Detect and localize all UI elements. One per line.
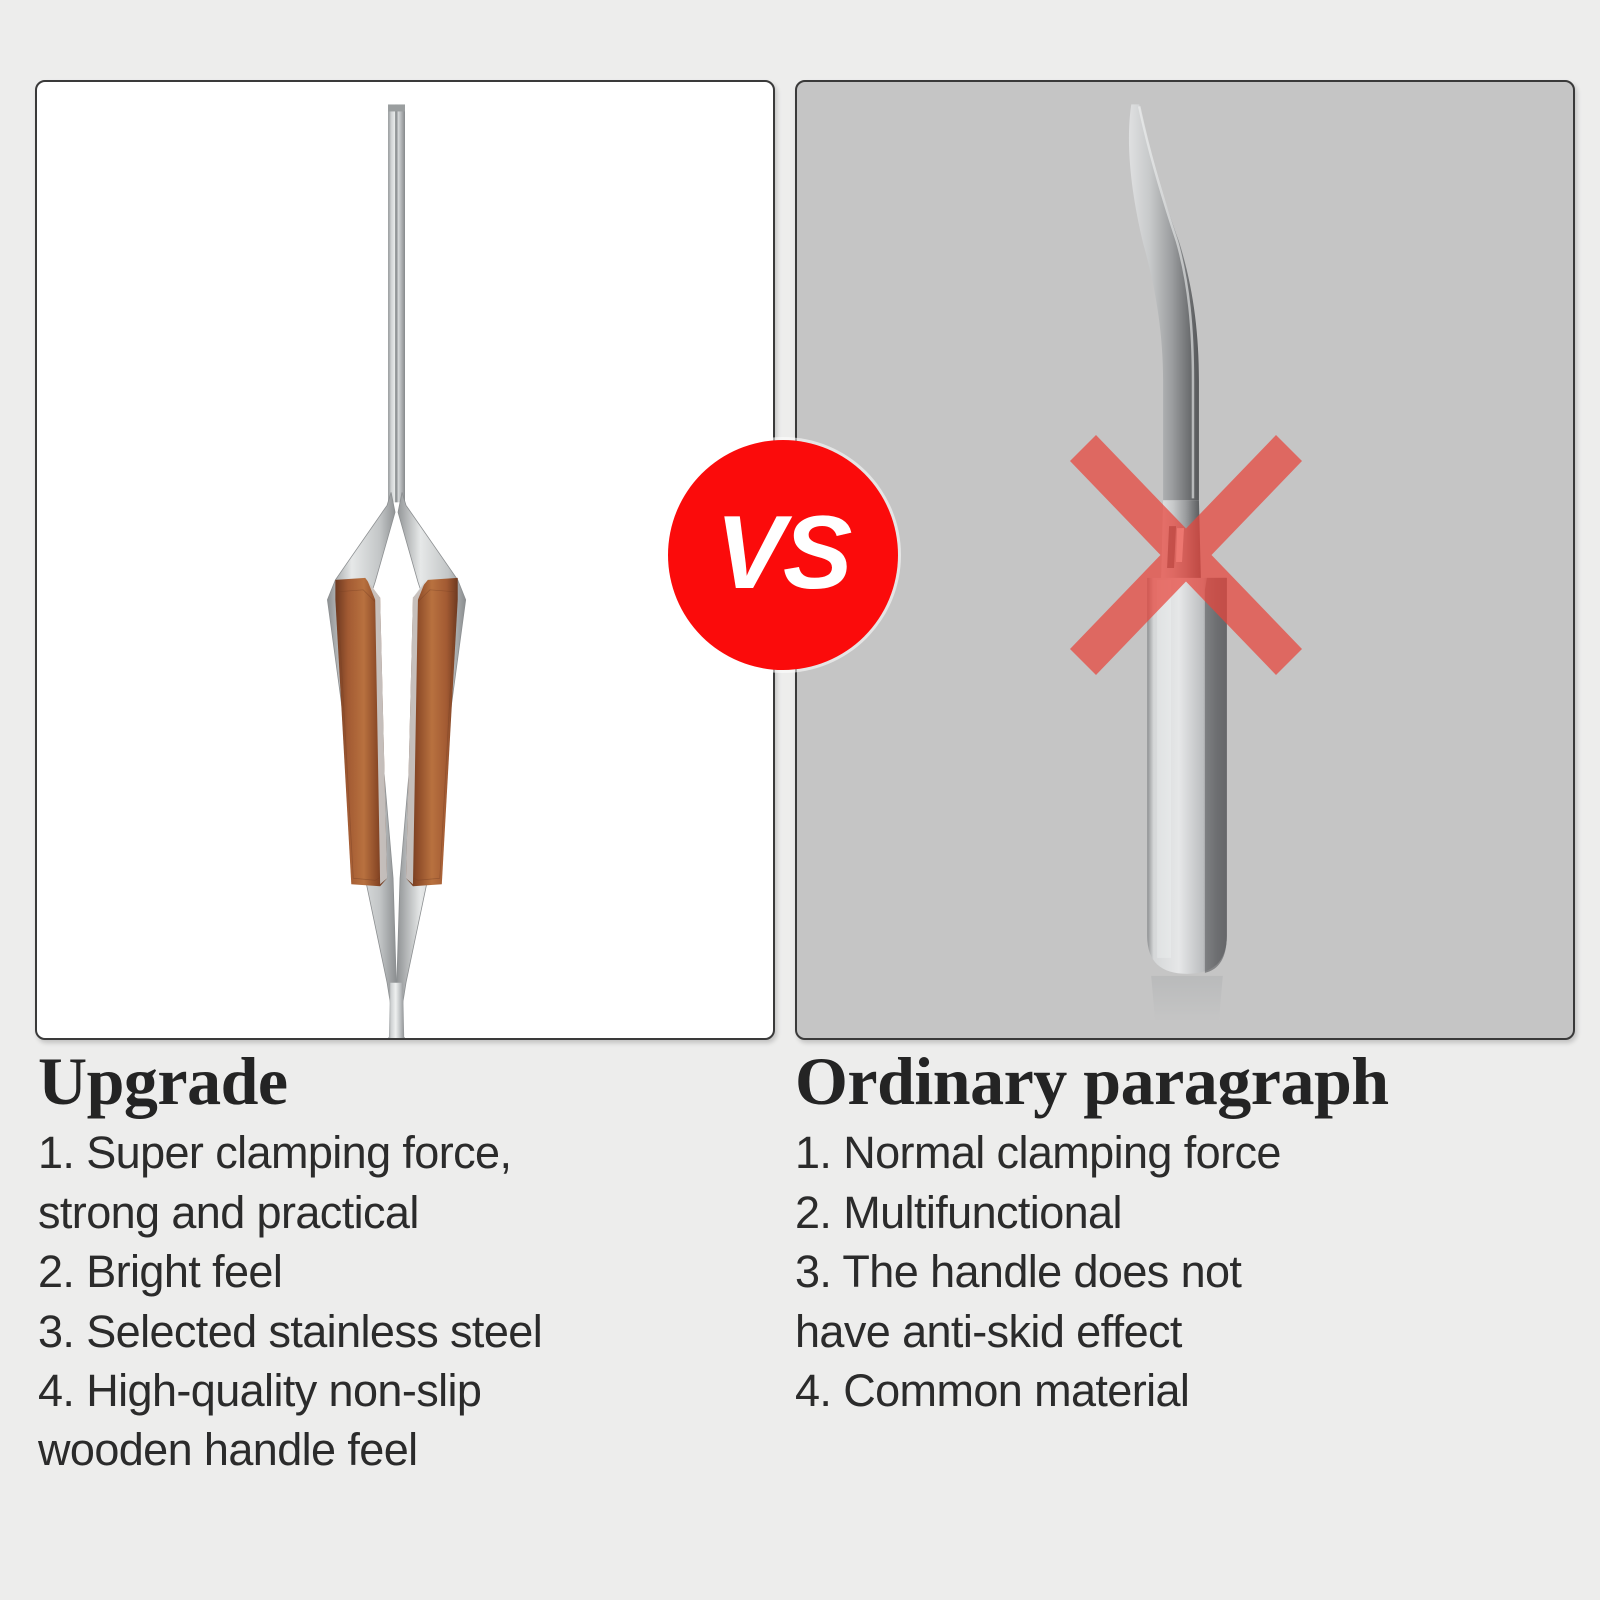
upgrade-heading: Upgrade bbox=[38, 1046, 758, 1117]
list-item: 3. Selected stainless steel bbox=[38, 1302, 758, 1361]
upgrade-feature-list: 1. Super clamping force, strong and prac… bbox=[38, 1123, 758, 1479]
list-item: 1. Super clamping force, bbox=[38, 1123, 758, 1182]
upgrade-product-panel bbox=[35, 80, 775, 1040]
list-item: 2. Bright feel bbox=[38, 1242, 758, 1301]
comparison-panels: VS bbox=[0, 0, 1600, 1040]
ordinary-product-panel bbox=[795, 80, 1575, 1040]
list-item: strong and practical bbox=[38, 1183, 758, 1242]
list-item: 4. High-quality non-slip bbox=[38, 1361, 758, 1420]
list-item: wooden handle feel bbox=[38, 1420, 758, 1479]
wooden-handle-tweezers-image bbox=[37, 82, 773, 1038]
vs-label: VS bbox=[716, 501, 851, 605]
curved-tip-tweezers-image bbox=[797, 82, 1573, 1038]
ordinary-heading: Ordinary paragraph bbox=[795, 1046, 1595, 1117]
list-item: 2. Multifunctional bbox=[795, 1183, 1595, 1242]
list-item: 4. Common material bbox=[795, 1361, 1595, 1420]
ordinary-text-column: Ordinary paragraph 1. Normal clamping fo… bbox=[795, 1046, 1595, 1420]
list-item: 1. Normal clamping force bbox=[795, 1123, 1595, 1182]
comparison-text: Upgrade 1. Super clamping force, strong … bbox=[0, 1046, 1600, 1600]
vs-badge: VS bbox=[668, 440, 898, 670]
list-item: 3. The handle does not bbox=[795, 1242, 1595, 1301]
upgrade-text-column: Upgrade 1. Super clamping force, strong … bbox=[38, 1046, 758, 1480]
ordinary-feature-list: 1. Normal clamping force 2. Multifunctio… bbox=[795, 1123, 1595, 1420]
list-item: have anti-skid effect bbox=[795, 1302, 1595, 1361]
